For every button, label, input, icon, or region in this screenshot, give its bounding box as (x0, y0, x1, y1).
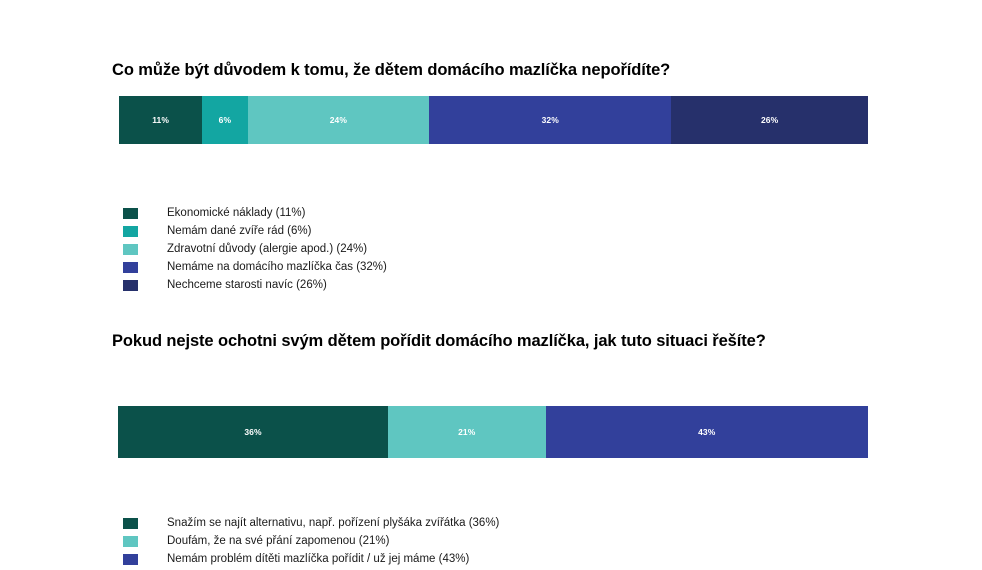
bar-segment-value-label: 11% (152, 115, 169, 125)
bar-segment: 24% (248, 96, 430, 144)
bar-segment-value-label: 6% (219, 115, 232, 125)
chart-legend-1: Ekonomické náklady (11%)Nemám dané zvíře… (123, 204, 387, 294)
legend-item-label: Snažím se najít alternativu, např. poříz… (167, 514, 499, 532)
legend-color-swatch (123, 244, 138, 255)
bar-segment: 6% (202, 96, 247, 144)
bar-segment: 43% (546, 406, 869, 458)
page-title-question-2: Pokud nejste ochotni svým dětem pořídit … (112, 329, 872, 353)
legend-item-label: Nemáme na domácího mazlíčka čas (32%) (167, 258, 387, 276)
legend-color-swatch (123, 536, 138, 547)
legend-item-label: Nemám dané zvíře rád (6%) (167, 222, 311, 240)
legend-item-label: Nemám problém dítěti mazlíčka pořídit / … (167, 550, 469, 568)
bar-segment-value-label: 36% (244, 427, 261, 437)
legend-color-swatch (123, 226, 138, 237)
slide-canvas: Co může být důvodem k tomu, že dětem dom… (0, 0, 982, 570)
bar-segment-value-label: 26% (761, 115, 778, 125)
page-title-question-1: Co může být důvodem k tomu, že dětem dom… (112, 58, 902, 82)
bar-segment: 36% (118, 406, 388, 458)
legend-item: Nechceme starosti navíc (26%) (123, 276, 387, 294)
bar-segment: 21% (388, 406, 546, 458)
legend-color-swatch (123, 208, 138, 219)
legend-item: Snažím se najít alternativu, např. poříz… (123, 514, 499, 532)
stacked-bar-chart-1: 11%6%24%32%26% (119, 96, 868, 144)
legend-item: Nemám problém dítěti mazlíčka pořídit / … (123, 550, 499, 568)
bar-segment-value-label: 43% (698, 427, 715, 437)
bar-segment-value-label: 21% (458, 427, 475, 437)
legend-color-swatch (123, 280, 138, 291)
legend-color-swatch (123, 554, 138, 565)
bar-segment: 26% (671, 96, 868, 144)
legend-item: Nemáme na domácího mazlíčka čas (32%) (123, 258, 387, 276)
bar-segment-value-label: 32% (542, 115, 559, 125)
legend-item-label: Zdravotní důvody (alergie apod.) (24%) (167, 240, 367, 258)
legend-item: Nemám dané zvíře rád (6%) (123, 222, 387, 240)
legend-item: Zdravotní důvody (alergie apod.) (24%) (123, 240, 387, 258)
chart-legend-2: Snažím se najít alternativu, např. poříz… (123, 514, 499, 568)
legend-item: Ekonomické náklady (11%) (123, 204, 387, 222)
legend-item: Doufám, že na své přání zapomenou (21%) (123, 532, 499, 550)
bar-segment: 11% (119, 96, 202, 144)
legend-item-label: Doufám, že na své přání zapomenou (21%) (167, 532, 389, 550)
legend-color-swatch (123, 518, 138, 529)
legend-item-label: Nechceme starosti navíc (26%) (167, 276, 327, 294)
bar-segment-value-label: 24% (330, 115, 347, 125)
bar-segment: 32% (429, 96, 671, 144)
stacked-bar-chart-2: 36%21%43% (118, 406, 868, 458)
legend-item-label: Ekonomické náklady (11%) (167, 204, 306, 222)
legend-color-swatch (123, 262, 138, 273)
